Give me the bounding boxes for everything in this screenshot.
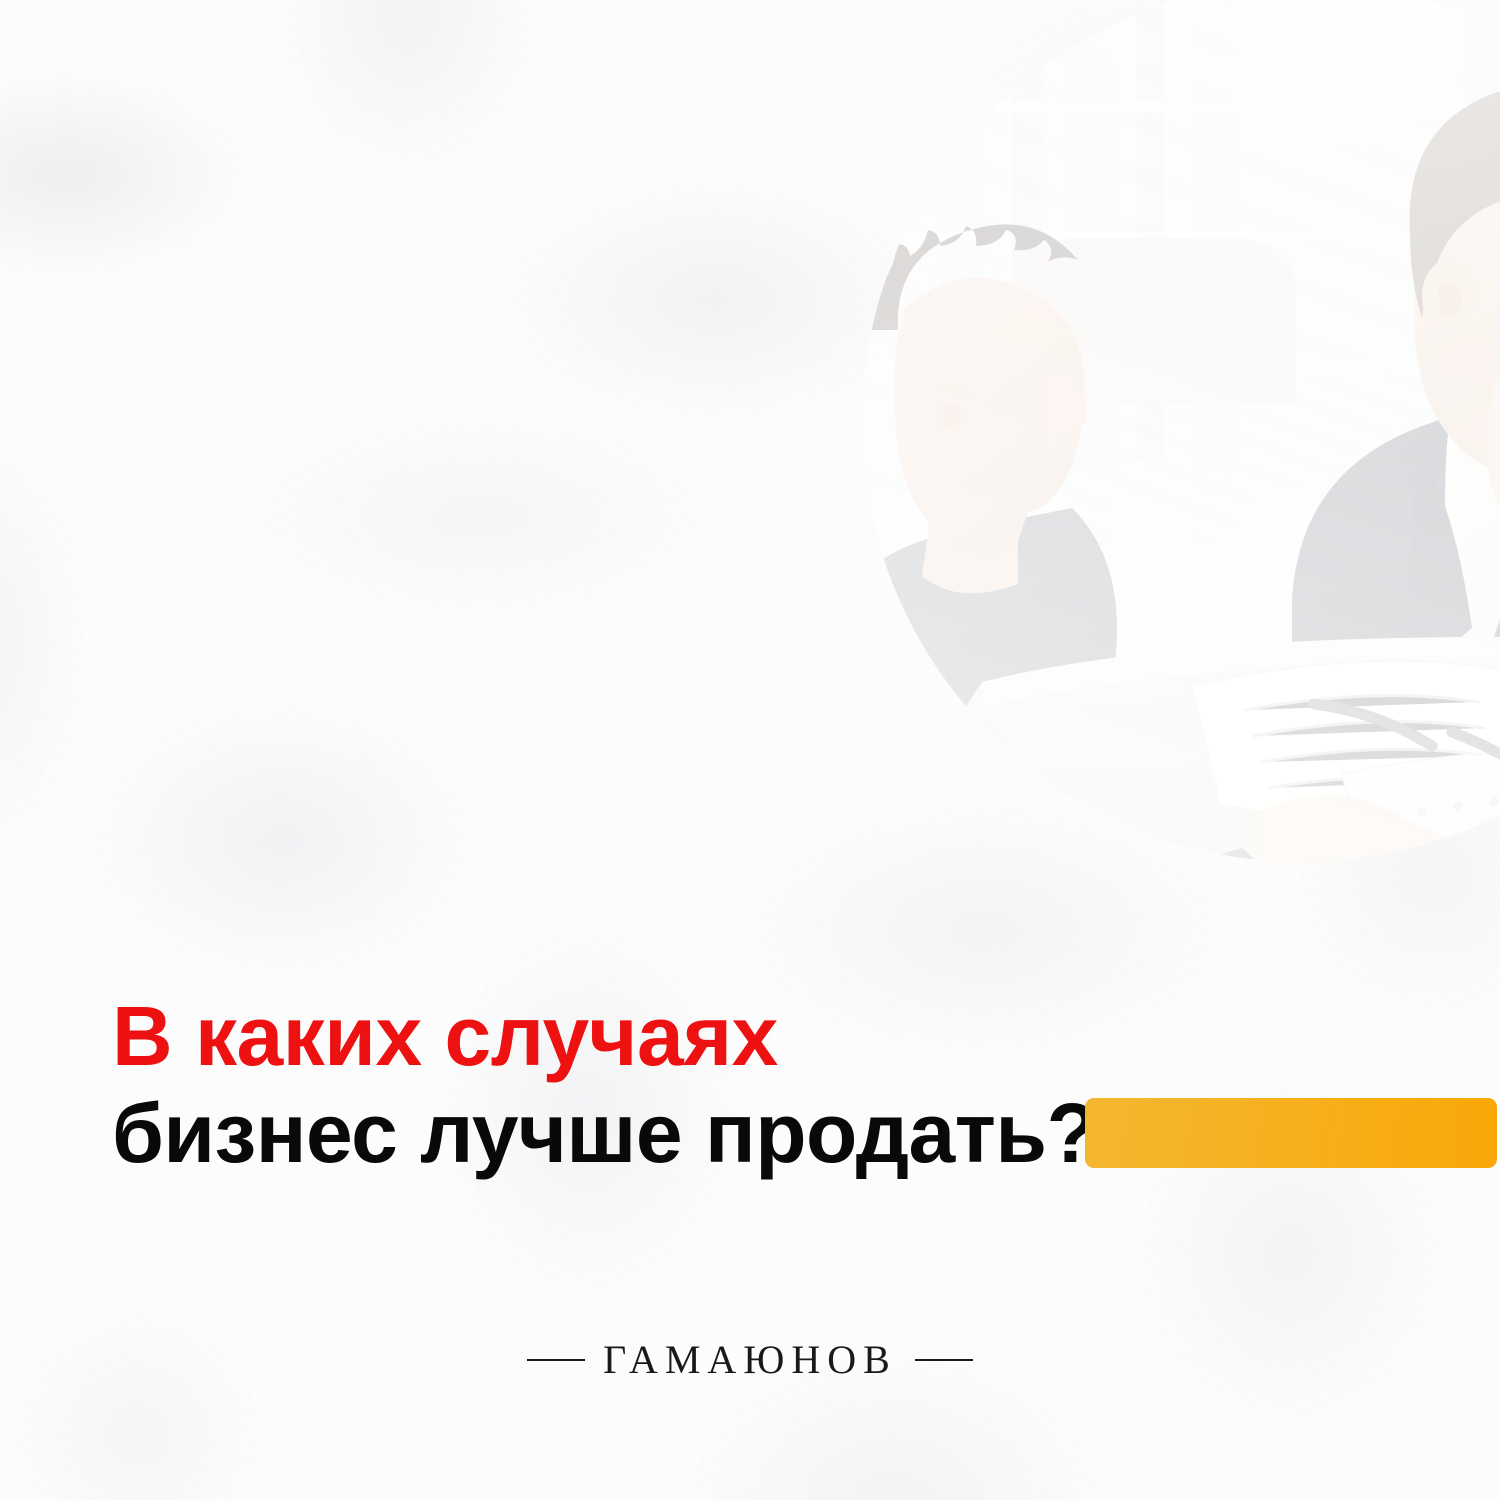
brand-name: ГАМАЮНОВ [603,1340,897,1380]
brand-rule-left-icon [527,1359,585,1361]
hero-photo-circle [862,0,1500,862]
brand-lockup: ГАМАЮНОВ [0,1340,1500,1380]
headline: В каких случаях бизнес лучше продать? [112,988,1112,1182]
accent-bar [1085,1098,1497,1168]
brand-rule-right-icon [915,1359,973,1361]
social-card: В каких случаях бизнес лучше продать? ГА… [0,0,1500,1500]
headline-line-1: В каких случаях [112,988,1112,1085]
hero-photo-illustration [862,0,1500,862]
headline-line-2: бизнес лучше продать? [112,1085,1112,1182]
